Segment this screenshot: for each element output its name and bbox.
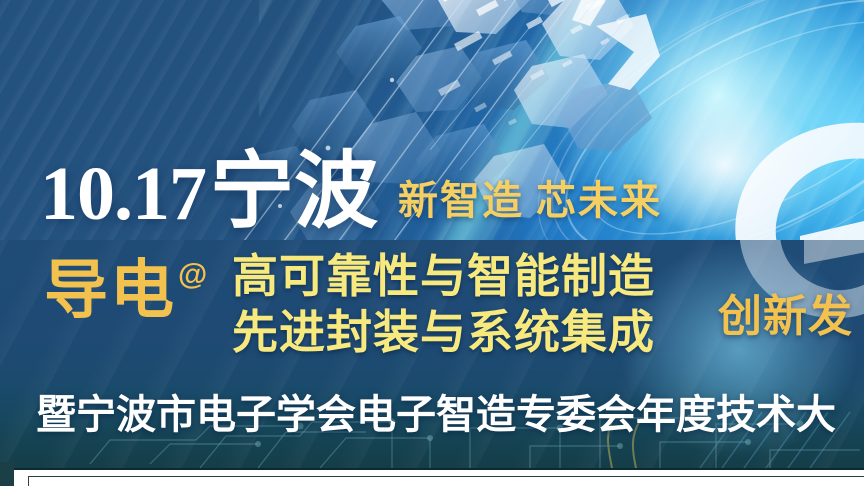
brand-name: 导电 (44, 258, 176, 324)
event-slogan: 新智造 芯未来 (398, 178, 662, 224)
event-city: 宁波 (210, 154, 378, 232)
conference-banner-poster: 10.17 宁波 新智造 芯未来 导电 @ 高可靠性与智能制造 先进封装与系统集… (0, 0, 864, 486)
event-subtitle: 暨宁波市电子学会电子智造专委会年度技术大 (36, 390, 836, 440)
bottom-white-panel-inner (28, 476, 864, 486)
main-title-line-1: 高可靠性与智能制造 (232, 248, 655, 304)
bottom-white-panel (14, 468, 864, 486)
bottom-left-strip (0, 462, 14, 486)
main-title-line-2: 先进封装与系统集成 (232, 304, 655, 360)
main-title-block: 高可靠性与智能制造 先进封装与系统集成 (232, 248, 655, 360)
right-cropped-gold-text: 创新发 (718, 292, 853, 342)
brand-at-mark: @ (178, 260, 207, 290)
event-date: 10.17 (40, 156, 206, 232)
date-city-row: 10.17 宁波 新智造 芯未来 (40, 140, 662, 232)
brand-logo: 导电 @ (44, 258, 207, 324)
